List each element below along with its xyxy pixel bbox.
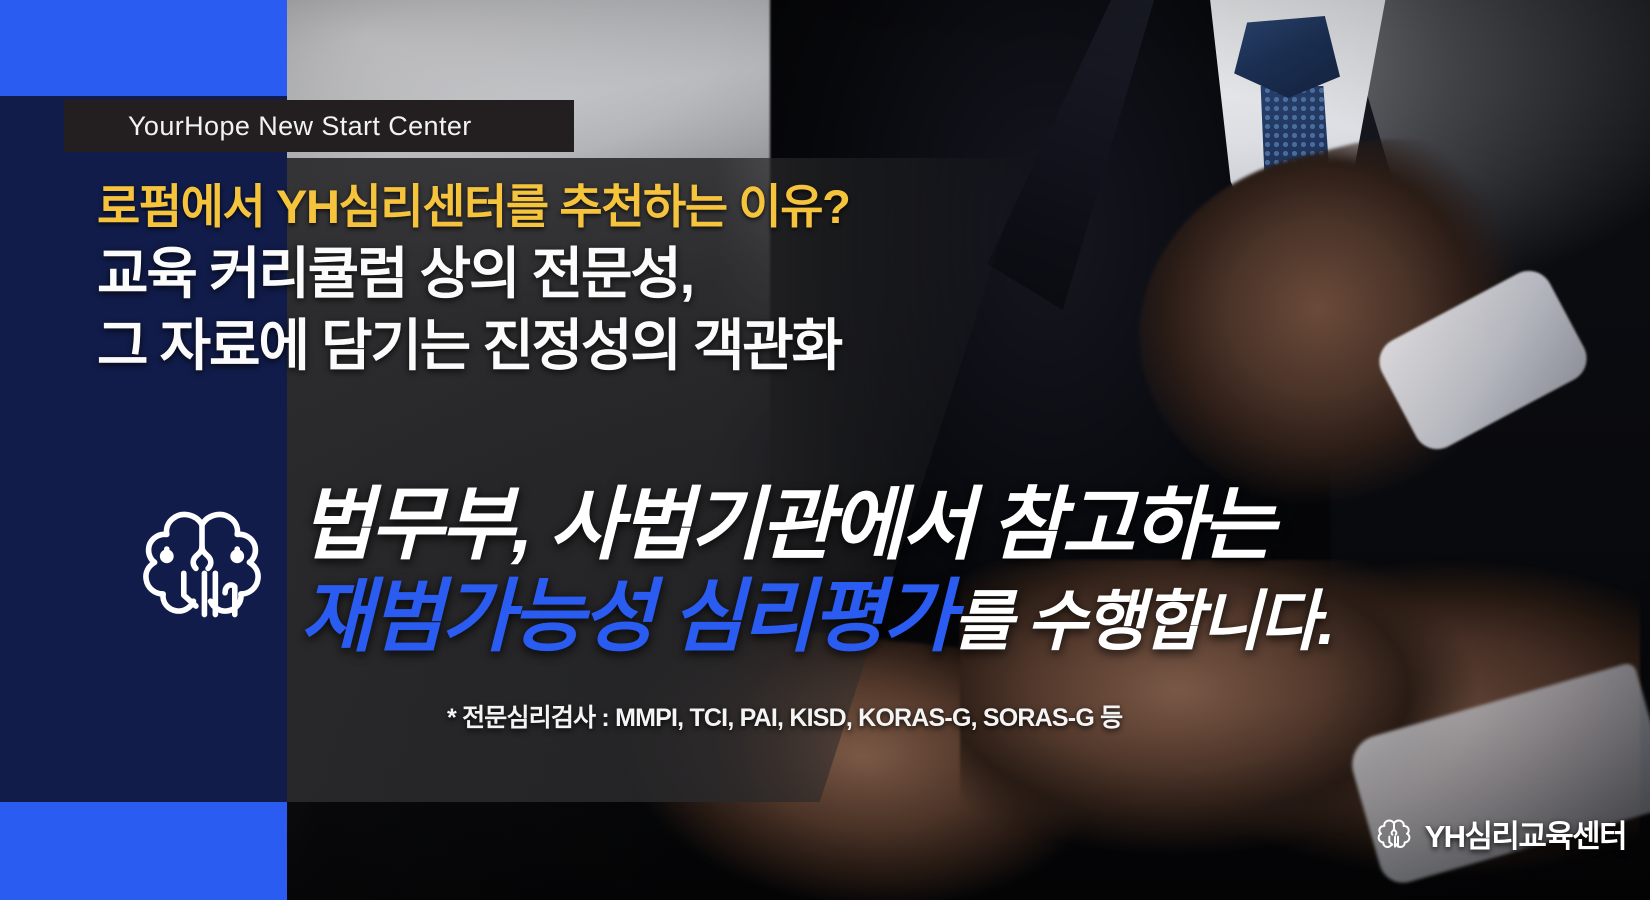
promo-banner: YourHope New Start Center 로펌에서 YH심리센터를 추… <box>0 0 1650 900</box>
eyebrow-label: YourHope New Start Center <box>64 111 472 142</box>
brain-icon <box>128 498 276 634</box>
headline-line-1: 교육 커리큘럼 상의 전문성, <box>97 241 1397 307</box>
statement-line-1: 법무부, 사법기관에서 참고하는 <box>300 480 1620 570</box>
eyebrow-chip: YourHope New Start Center <box>64 100 574 152</box>
footnote-text: * 전문심리검사 : MMPI, TCI, PAI, KISD, KORAS-G… <box>447 698 1122 734</box>
brand-logo: YH심리교육센터 <box>1374 811 1626 856</box>
headline-block: 로펌에서 YH심리센터를 추천하는 이유? 교육 커리큘럼 상의 전문성, 그 … <box>97 178 1397 379</box>
brain-icon <box>1374 815 1414 853</box>
statement-block: 법무부, 사법기관에서 참고하는 재범가능성 심리평가를 수행합니다. <box>300 480 1620 661</box>
headline-line-2: 그 자료에 담기는 진정성의 객관화 <box>97 313 1397 379</box>
brand-name: YH심리교육센터 <box>1425 811 1626 856</box>
statement-line-2: 재범가능성 심리평가를 수행합니다. <box>300 572 1620 662</box>
statement-highlight: 재범가능성 심리평가 <box>300 572 953 661</box>
headline-question: 로펌에서 YH심리센터를 추천하는 이유? <box>97 178 1397 235</box>
statement-tail: 를 수행합니다. <box>953 584 1333 658</box>
